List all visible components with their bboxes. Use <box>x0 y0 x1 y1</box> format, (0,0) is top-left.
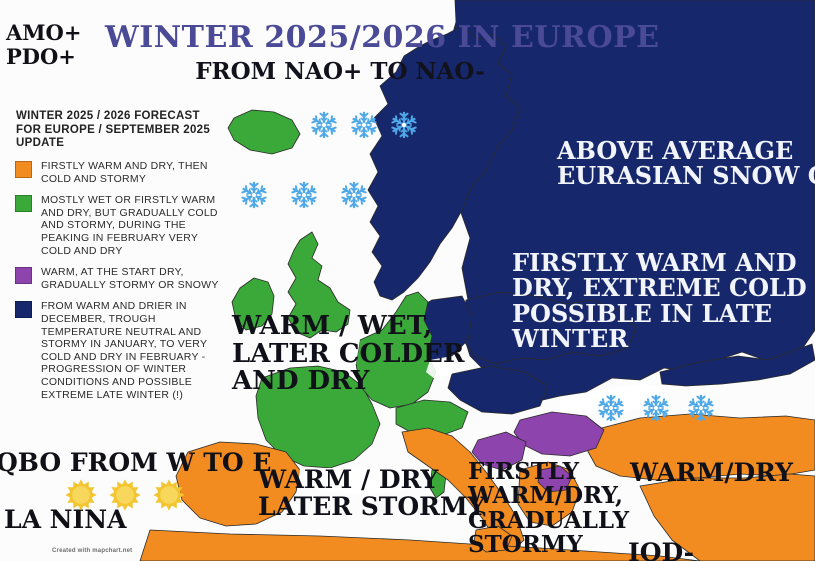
legend-swatch-purple <box>15 267 32 284</box>
map-label-balkans: FIRSTLYWARM/DRY,GRADUALLYSTORMY <box>468 460 629 558</box>
snowflake-icon <box>641 393 671 423</box>
map-label-mediterranean: WARM / DRYLATER STORMY <box>258 467 485 520</box>
snowflake-icon <box>239 180 269 210</box>
legend-item-navy: FROM WARM AND DRIER IN DECEMBER, TROUGH … <box>15 300 220 401</box>
index-label-pdo: PDO+ <box>6 44 76 69</box>
index-label-amo: AMO+ <box>6 20 81 45</box>
page-title: WINTER 2025/2026 IN EUROPE <box>105 20 575 55</box>
sun-icon <box>108 478 142 512</box>
sun-icon <box>64 478 98 512</box>
map-label-turkey: WARM/DRY <box>630 460 793 487</box>
sun-icon <box>152 478 186 512</box>
legend-item-green: MOSTLY WET OR FIRSTLY WARM AND DRY, BUT … <box>15 194 220 257</box>
legend-list: FIRSTLY WARM AND DRY, THEN COLD AND STOR… <box>15 160 220 410</box>
snowflake-icon <box>339 180 369 210</box>
snowflake-icon <box>596 393 626 423</box>
snowflake-icon <box>309 110 339 140</box>
index-label-qbo: QBO FROM W TO E <box>0 448 271 477</box>
index-label-iod: IOD- <box>628 538 694 561</box>
legend-item-orange: FIRSTLY WARM AND DRY, THEN COLD AND STOR… <box>15 160 220 185</box>
legend-label-navy: FROM WARM AND DRIER IN DECEMBER, TROUGH … <box>41 300 220 401</box>
page-subtitle: FROM NAO+ TO NAO- <box>120 58 560 85</box>
legend-label-green: MOSTLY WET OR FIRSTLY WARM AND DRY, BUT … <box>41 194 220 257</box>
snowflake-icon <box>686 393 716 423</box>
legend-swatch-navy <box>15 301 32 318</box>
legend-label-purple: WARM, AT THE START DRY, GRADUALLY STORMY… <box>41 266 220 291</box>
legend-heading: WINTER 2025 / 2026 FORECAST FOR EUROPE /… <box>16 110 216 151</box>
legend-swatch-orange <box>15 161 32 178</box>
legend-swatch-green <box>15 195 32 212</box>
map-label-west-europe: WARM / WET,LATER COLDERAND DRY <box>232 313 464 396</box>
map-label-russia: FIRSTLY WARM ANDDRY, EXTREME COLDPOSSIBL… <box>512 250 807 352</box>
snowflake-icon <box>289 180 319 210</box>
map-label-snow-cover: ABOVE AVERAGEEURASIAN SNOW COVER <box>557 138 815 189</box>
attribution-text: Created with mapchart.net <box>52 548 132 554</box>
legend-label-orange: FIRSTLY WARM AND DRY, THEN COLD AND STOR… <box>41 160 220 185</box>
infographic-canvas: .ct{stroke:#2a2a2a;stroke-width:0.8;stro… <box>0 0 815 561</box>
snowflake-icon <box>389 110 419 140</box>
legend-item-purple: WARM, AT THE START DRY, GRADUALLY STORMY… <box>15 266 220 291</box>
snowflake-icon <box>349 110 379 140</box>
